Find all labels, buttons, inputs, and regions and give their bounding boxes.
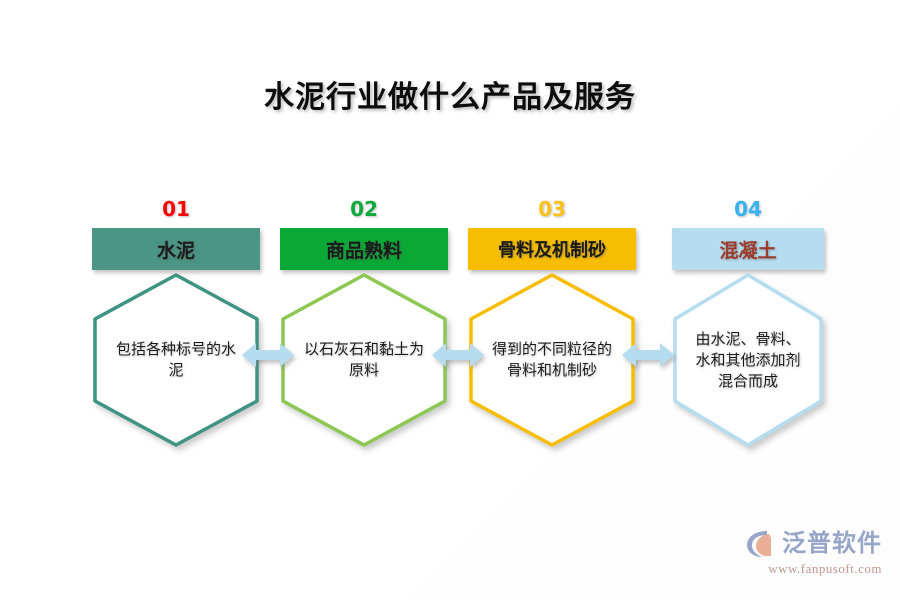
step-hexagon-04[interactable]: 由水泥、骨料、水和其他添加剂混合而成: [672, 272, 824, 448]
hexagon-shape-icon: [92, 272, 260, 448]
step-header-03[interactable]: 骨料及机制砂: [468, 228, 636, 270]
step-number-03: 03: [468, 196, 636, 222]
step-header-02[interactable]: 商品熟料: [280, 228, 448, 270]
brand-watermark: 泛普软件 www.fanpusoft.com: [732, 528, 882, 582]
flow-step-01[interactable]: 01 水泥 包括各种标号的水泥: [92, 196, 260, 466]
double-arrow-icon: [622, 340, 674, 370]
arrow-step1-step2: [242, 340, 294, 370]
brand-name: 泛普软件: [782, 529, 882, 559]
step-number-04: 04: [672, 196, 824, 222]
step-number-01: 01: [92, 196, 260, 222]
step-number-02: 02: [280, 196, 448, 222]
step-hexagon-01[interactable]: 包括各种标号的水泥: [92, 272, 260, 448]
brand-url: www.fanpusoft.com: [732, 561, 882, 577]
double-arrow-icon: [242, 340, 294, 370]
step-header-04[interactable]: 混凝土: [672, 228, 824, 270]
brand-row: 泛普软件: [732, 528, 882, 560]
flow-step-04[interactable]: 04 混凝土 由水泥、骨料、水和其他添加剂混合而成: [672, 196, 824, 466]
double-arrow-icon: [432, 340, 484, 370]
arrow-step2-step3: [432, 340, 484, 370]
hexagon-shape-icon: [280, 272, 448, 448]
hexagon-shape-icon: [468, 272, 636, 448]
page-title: 水泥行业做什么产品及服务: [0, 72, 900, 116]
step-hexagon-02[interactable]: 以石灰石和黏土为原料: [280, 272, 448, 448]
step-header-01[interactable]: 水泥: [92, 228, 260, 270]
flow-step-03[interactable]: 03 骨料及机制砂 得到的不同粒径的骨料和机制砂: [468, 196, 636, 466]
arrow-step3-step4: [622, 340, 674, 370]
fanpu-swoosh-logo-icon: [745, 529, 777, 559]
process-flow: 01 水泥 包括各种标号的水泥 02 商品熟料 以石灰石和黏土为原料: [0, 196, 900, 466]
step-hexagon-03[interactable]: 得到的不同粒径的骨料和机制砂: [468, 272, 636, 448]
hexagon-shape-icon: [672, 272, 824, 448]
slide-canvas: 水泥行业做什么产品及服务 01 水泥 包括各种标号的水泥 02 商品熟料: [0, 0, 900, 600]
flow-step-02[interactable]: 02 商品熟料 以石灰石和黏土为原料: [280, 196, 448, 466]
